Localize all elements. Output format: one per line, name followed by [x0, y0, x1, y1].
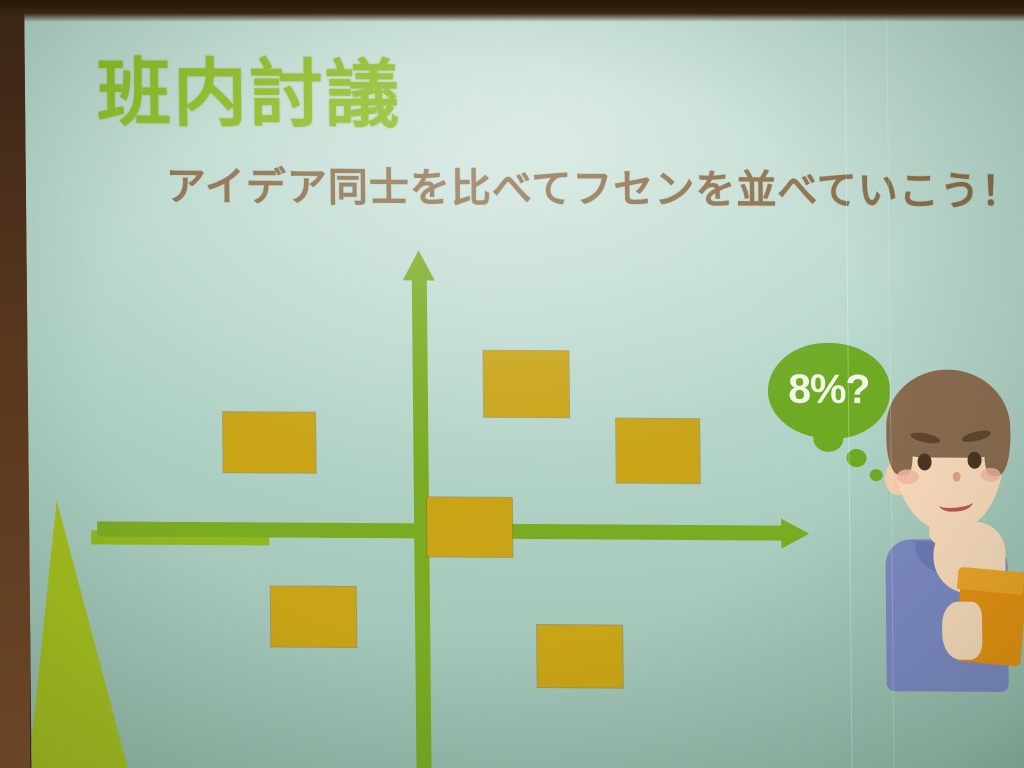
sticky-note[interactable] — [537, 625, 623, 688]
arrow-right-icon — [781, 519, 809, 549]
boy-eye-right — [967, 452, 981, 469]
thought-bubble-tail-1 — [813, 426, 843, 452]
sticky-note[interactable] — [271, 586, 357, 647]
boy-cheek-right — [981, 468, 1001, 482]
sticky-note[interactable] — [427, 497, 513, 557]
boy-nose — [953, 472, 961, 482]
arrow-up-icon — [403, 250, 435, 280]
sticky-note[interactable] — [616, 419, 700, 484]
thought-bubble-tail-2 — [846, 449, 866, 467]
page-title: 班内討議 — [97, 56, 402, 132]
boy-hair-side — [886, 403, 913, 475]
sticky-note[interactable] — [483, 351, 569, 418]
slide-decoration-bar-left — [91, 530, 269, 545]
worried-boy-icon — [868, 351, 1024, 692]
projected-slide: 班内討議 アイデア同士を比べてフセンを並べていこう！ 8%? — [24, 0, 1024, 768]
boy-eye-left — [917, 453, 931, 470]
boy-hand-on-chin — [929, 511, 979, 547]
page-subtitle: アイデア同士を比べてフセンを並べていこう！ — [166, 167, 1022, 212]
thought-bubble-text: 8%? — [788, 365, 870, 412]
photograph-of-projected-slide: 班内討議 アイデア同士を比べてフセンを並べていこう！ 8%? — [0, 0, 1024, 768]
boy-cheek-left — [897, 469, 919, 484]
boy-holding-hand — [942, 602, 983, 660]
sticky-note[interactable] — [223, 412, 316, 473]
